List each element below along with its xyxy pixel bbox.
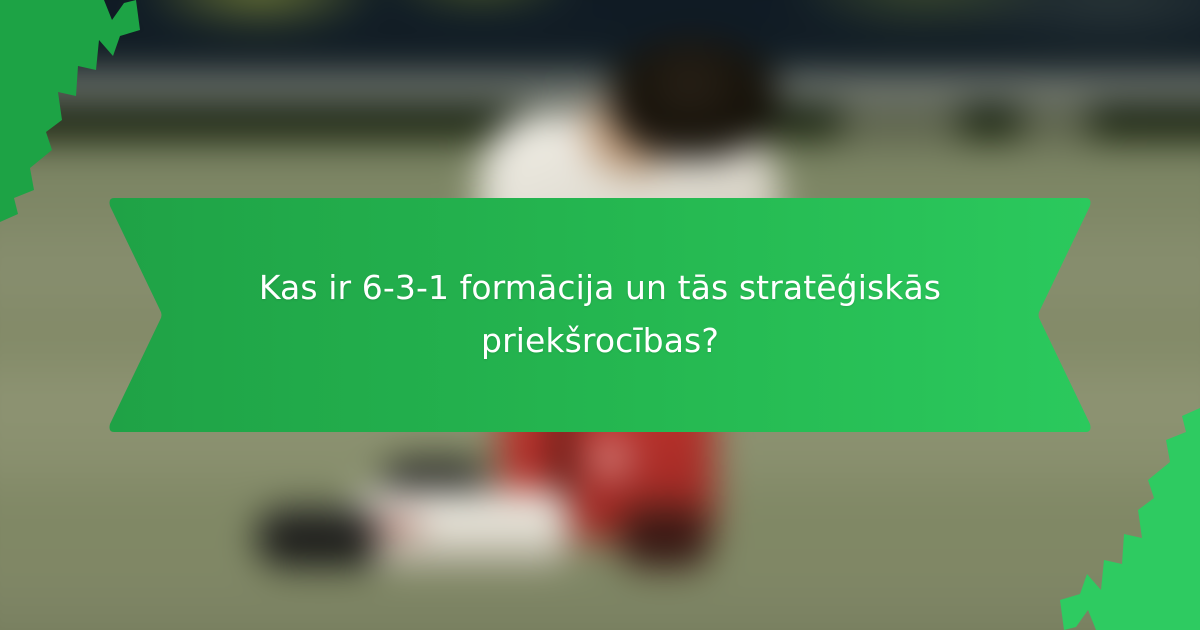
headline-ribbon: Kas ir 6-3-1 formācija un tās stratēģisk…: [104, 194, 1096, 436]
player-head: [608, 38, 778, 158]
player-leg: [620, 505, 710, 567]
page-title: Kas ir 6-3-1 formācija un tās stratēģisk…: [254, 262, 946, 368]
player-shorts-badge: [588, 436, 632, 480]
player-boot: [256, 508, 376, 566]
headline-container: Kas ir 6-3-1 formācija un tās stratēģisk…: [104, 194, 1096, 436]
wall-gap: [1020, 102, 1090, 142]
share-card: Kas ir 6-3-1 formācija un tās stratēģisk…: [0, 0, 1200, 630]
wall-gap: [840, 102, 960, 142]
